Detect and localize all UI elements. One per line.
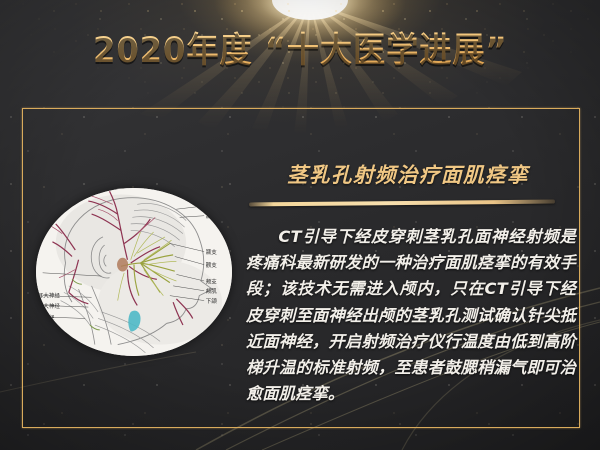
svg-text:颊肌: 颊肌 <box>206 287 218 295</box>
section-subtitle: 茎乳孔射频治疗面肌痉挛 <box>248 158 568 188</box>
svg-text:耳大神经: 耳大神经 <box>38 292 61 300</box>
svg-text:颊支: 颊支 <box>206 277 218 285</box>
svg-text:颞支: 颞支 <box>206 248 218 256</box>
svg-text:下颌: 下颌 <box>206 297 218 305</box>
poster-root: 2020年度 “十大医学进展” <box>0 0 600 450</box>
svg-text:颧支: 颧支 <box>206 261 218 269</box>
page-title: 2020年度 “十大医学进展” <box>93 22 508 73</box>
body-paragraph: CT引导下经皮穿刺茎乳孔面神经射频是疼痛科最新研发的一种治疗面肌痉挛的有效手段；… <box>246 224 576 408</box>
anatomy-illustration: 耳颞 颞上血管 颞支 颧支 颊支 颊肌 下颌 耳大神经 枕大神经 副神经 <box>36 188 232 356</box>
poster-title-container: 2020年度 “十大医学进展” <box>0 22 600 73</box>
